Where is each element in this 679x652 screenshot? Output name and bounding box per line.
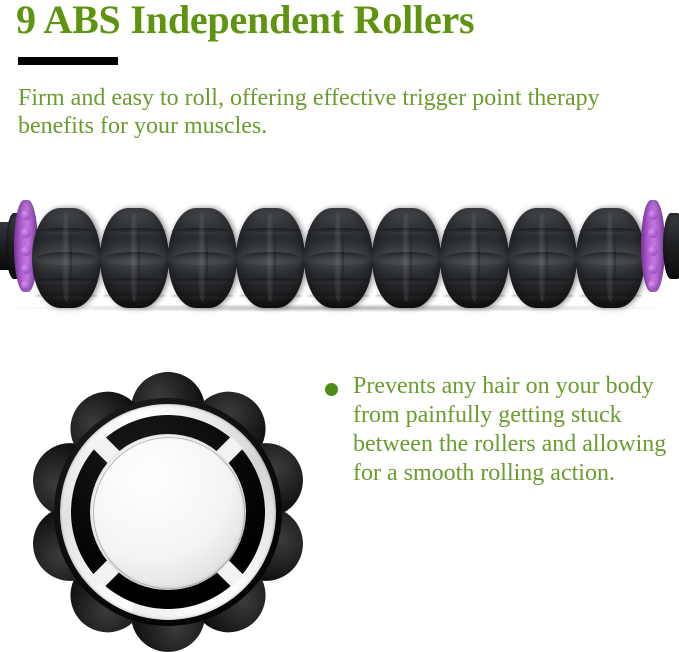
grip-bump-icon: [648, 246, 658, 256]
roller-right-grip-band: [641, 200, 665, 292]
roller-segment: [32, 208, 101, 308]
subtitle-text: Firm and easy to roll, offering effectiv…: [18, 84, 668, 140]
wheel-center-ring-outline: [93, 437, 245, 589]
roller-segment: [508, 208, 577, 308]
roller-segment: [236, 208, 305, 308]
roller-segment: [304, 208, 373, 308]
heading-underline-bar: [18, 57, 118, 65]
grip-bump-icon: [648, 210, 658, 220]
wheel-closeup-image: [26, 372, 310, 651]
roller-segment: [100, 208, 169, 308]
grip-bump-icon: [648, 280, 658, 290]
roller-segment: [372, 208, 441, 308]
grip-bump-icon: [648, 264, 658, 274]
roller-segment: [440, 208, 509, 308]
roller-product-image: [0, 196, 679, 321]
roller-segment: [576, 208, 645, 308]
feature-bullet-list: Prevents any hair on your body from pain…: [325, 372, 677, 488]
bullet-dot-icon: [325, 383, 338, 396]
list-item: Prevents any hair on your body from pain…: [325, 372, 677, 488]
bullet-item-text: Prevents any hair on your body from pain…: [353, 372, 677, 488]
roller-segment: [168, 208, 237, 308]
page-title: 9 ABS Independent Rollers: [16, 0, 679, 42]
roller-drop-shadow: [8, 304, 668, 312]
roller-segment-group: [0, 208, 679, 308]
grip-bump-icon: [648, 228, 658, 238]
roller-right-end-cap: [663, 213, 679, 279]
